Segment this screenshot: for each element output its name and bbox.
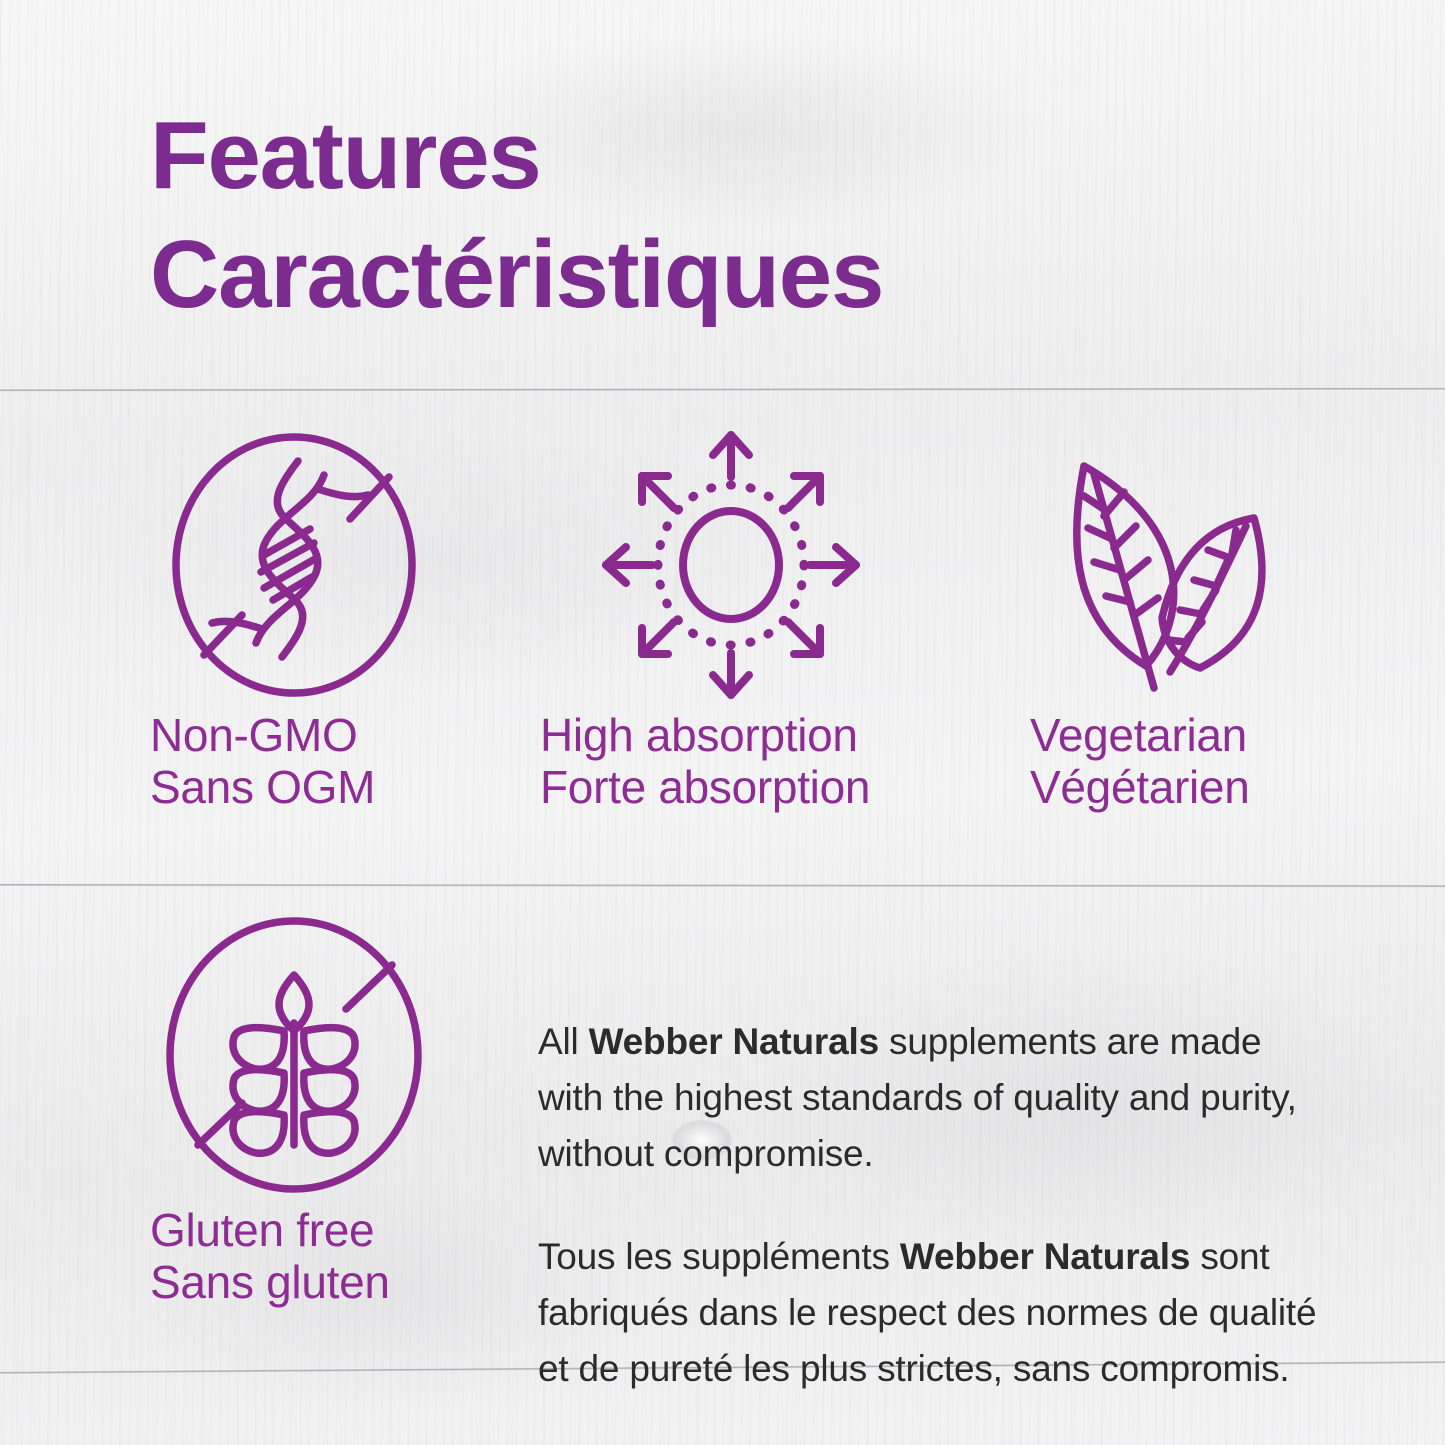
feature-label-vegetarian: Vegetarian Végétarien [1030,710,1430,813]
feature-label-en: Gluten free [150,1205,550,1257]
feature-label-fr: Forte absorption [540,762,960,814]
gluten-free-icon-wrap [150,905,550,1205]
brand-name-fr: Webber Naturals [900,1236,1190,1277]
feature-item-high-absorption: High absorption Forte absorption [540,420,960,813]
gluten-free-icon [160,913,428,1197]
non-gmo-icon-wrap [150,420,550,710]
brand-statement-fr: Tous les suppléments Webber Naturals son… [538,1229,1328,1398]
feature-row-top: Non-GMO Sans OGM [0,420,1445,860]
non-gmo-icon [160,429,428,701]
high-absorption-icon-wrap [540,420,960,710]
feature-label-fr: Sans gluten [150,1257,550,1309]
feature-label-en: Non-GMO [150,710,550,762]
page-title: Features Caractéristiques [150,96,883,334]
page-title-fr: Caractéristiques [150,215,883,334]
feature-item-non-gmo: Non-GMO Sans OGM [150,420,550,813]
brand-statement-en: All Webber Naturals supplements are made… [538,1014,1328,1183]
vegetarian-leaves-icon [1040,430,1288,700]
vegetarian-icon-wrap [1030,420,1430,710]
statement-en-before: All [538,1021,589,1062]
page-title-en: Features [150,96,883,215]
feature-label-en: High absorption [540,710,960,762]
statement-fr-before: Tous les suppléments [538,1236,900,1277]
feature-label-fr: Sans OGM [150,762,550,814]
feature-label-en: Vegetarian [1030,710,1430,762]
wood-background-panel: Features Caractéristiques [0,0,1445,1445]
feature-label-fr: Végétarien [1030,762,1430,814]
feature-item-vegetarian: Vegetarian Végétarien [1030,420,1430,813]
feature-label-non-gmo: Non-GMO Sans OGM [150,710,550,813]
feature-label-high-absorption: High absorption Forte absorption [540,710,960,813]
brand-name-en: Webber Naturals [589,1021,879,1062]
feature-item-gluten-free: Gluten free Sans gluten [150,905,550,1308]
feature-label-gluten-free: Gluten free Sans gluten [150,1205,550,1308]
high-absorption-icon [600,429,862,701]
brand-statement-block: All Webber Naturals supplements are made… [538,977,1328,1434]
